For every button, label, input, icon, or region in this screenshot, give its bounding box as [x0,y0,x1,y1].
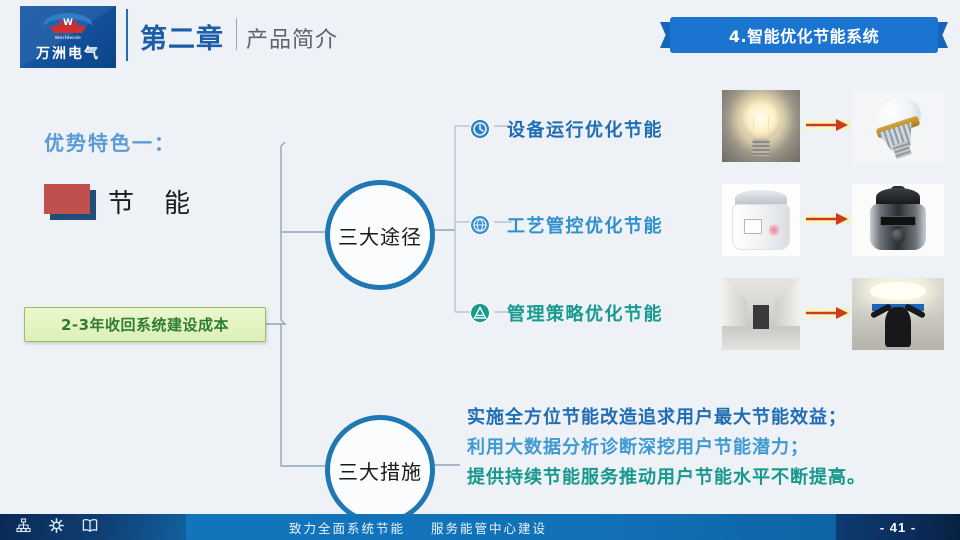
payback-note-box: 2-3年收回系统建设成本 [24,307,266,342]
slide-canvas: W Worldwide 万洲电气 第二章 产品简介 4.智能优化节能系统 [0,0,960,540]
incandescent-bulb-photo [722,90,800,162]
slide-footer: 致力全面系统节能 服务能管中心建设 - 41 - [0,514,960,540]
dim-corridor-photo [722,278,800,350]
keyword-char-1: 节 [108,189,136,219]
measure-line-1: 实施全方位节能改造追求用户最大节能效益； [467,403,866,433]
ribbon-body: 4.智能优化节能系统 [670,17,938,53]
payback-note-text: 2-3年收回系统建设成本 [61,314,229,335]
ribbon-title: 4.智能优化节能系统 [729,23,879,47]
page-title: 产品简介 [246,22,338,54]
measures-text-block: 实施全方位节能改造追求用户最大节能效益； 利用大数据分析诊断深挖用户节能潜力； … [467,403,866,493]
node-three-paths[interactable]: 三大途径 [325,180,435,290]
page-number-text: - 41 - [880,520,916,535]
header-separator [236,18,237,50]
node-three-paths-label: 三大途径 [338,221,422,250]
branch-label-equipment: 设备运行优化节能 [507,116,663,142]
branch-item-equipment[interactable]: 设备运行优化节能 [470,116,663,142]
page-number: - 41 - [836,514,960,540]
advantage-title: 优势特色一： [44,127,176,156]
section-ribbon: 4.智能优化节能系统 [660,17,948,53]
triangle-a-icon [470,303,490,323]
globe-circle-icon [470,215,490,235]
pressure-cooker-photo [852,184,944,256]
logo-company-name: 万洲电气 [36,43,100,63]
node-three-measures[interactable]: 三大措施 [325,415,435,525]
company-logo: W Worldwide 万洲电气 [20,6,116,68]
branch-label-management: 管理策略优化节能 [507,300,663,326]
right-arrow-icon [804,116,850,134]
right-arrow-icon [804,304,850,322]
rice-cooker-photo [722,184,800,256]
node-three-measures-label: 三大措施 [338,456,422,485]
branch-label-process: 工艺管控优化节能 [507,212,663,238]
led-bulb-photo [852,90,944,162]
w-emblem-icon: W [40,12,96,34]
branch-item-management[interactable]: 管理策略优化节能 [470,300,663,326]
measure-line-2: 利用大数据分析诊断深挖用户节能潜力； [467,433,866,463]
keyword-char-2: 能 [164,189,192,219]
lit-corridor-photo [852,278,944,350]
header-accent-bar [126,9,128,61]
keyword-energy-saving: 节能 [108,183,192,220]
clock-circle-icon [470,119,490,139]
footer-slogan-left: 致力全面系统节能 [289,518,405,537]
footer-slogan-right: 服务能管中心建设 [431,518,547,537]
logo-sub-text: Worldwide [55,35,81,40]
chapter-title: 第二章 [140,17,224,56]
accent-square [44,184,90,214]
measure-line-3: 提供持续节能服务推动用户节能水平不断提高。 [467,463,866,493]
footer-slogan: 致力全面系统节能 服务能管中心建设 [0,514,836,540]
right-arrow-icon [804,210,850,228]
svg-text:W: W [63,18,73,28]
branch-item-process[interactable]: 工艺管控优化节能 [470,212,663,238]
